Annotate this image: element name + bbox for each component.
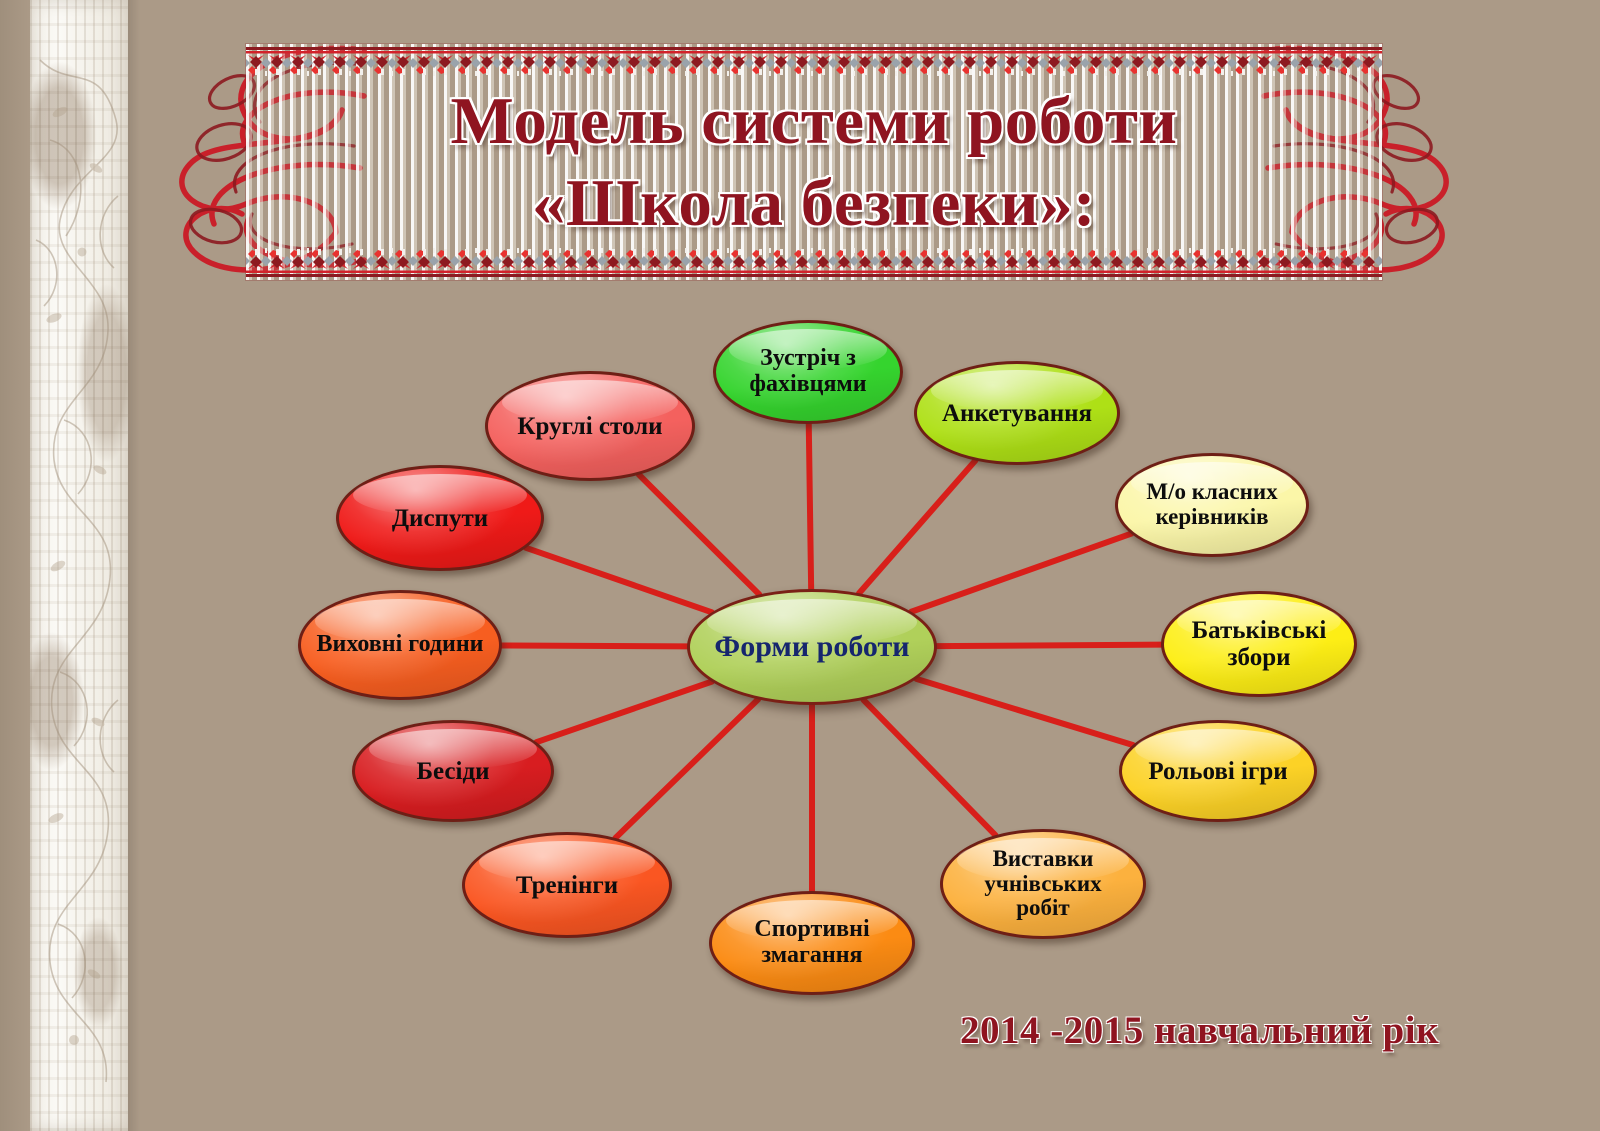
connector-line <box>859 461 975 594</box>
node-4[interactable]: Диспути <box>336 465 544 571</box>
node-label: Батьківські збори <box>1176 617 1342 671</box>
center-node[interactable]: Форми роботи <box>687 589 937 705</box>
connector-line <box>916 679 1132 745</box>
node-label: Диспути <box>392 505 488 532</box>
node-label: Виховні години <box>316 632 483 658</box>
connector-line <box>639 475 759 595</box>
connector-line <box>937 645 1161 647</box>
node-3[interactable]: Анкетування <box>914 361 1120 465</box>
connector-line <box>809 424 811 589</box>
node-11[interactable]: Виставки учнівських робіт <box>940 829 1146 939</box>
node-7[interactable]: Батьківські збори <box>1161 591 1357 697</box>
connector-line <box>536 682 711 743</box>
node-label: Спортивні змагання <box>724 917 900 969</box>
slide-canvas: Модель системи роботи «Школа безпеки»: З… <box>0 0 1600 1131</box>
connector-line <box>864 700 996 835</box>
node-10[interactable]: Тренінги <box>462 832 672 938</box>
node-6[interactable]: Виховні години <box>298 590 502 700</box>
connector-line <box>526 548 712 612</box>
node-label: Бесіди <box>416 758 489 785</box>
connector-line <box>615 699 758 838</box>
node-8[interactable]: Бесіди <box>352 720 554 822</box>
node-label: Круглі столи <box>517 413 662 440</box>
node-2[interactable]: Круглі столи <box>485 371 695 481</box>
mind-map-diagram: Зустріч з фахівцямиКруглі столиАнкетуван… <box>0 0 1600 1131</box>
node-1[interactable]: Зустріч з фахівцями <box>713 320 903 424</box>
node-label: Форми роботи <box>714 631 909 663</box>
node-label: Виставки учнівських робіт <box>955 847 1131 921</box>
node-label: Зустріч з фахівцями <box>728 346 888 398</box>
node-label: М/о класних керівників <box>1130 480 1294 530</box>
node-label: Тренінги <box>516 872 618 899</box>
footer-school-year: 2014 -2015 навчальний рік <box>960 1008 1439 1053</box>
node-12[interactable]: Спортивні змагання <box>709 891 915 995</box>
connector-line <box>911 534 1131 612</box>
node-label: Рольові ігри <box>1148 758 1287 785</box>
node-9[interactable]: Рольові ігри <box>1119 720 1317 822</box>
connector-line <box>502 645 687 646</box>
node-5[interactable]: М/о класних керівників <box>1115 453 1309 557</box>
node-label: Анкетування <box>942 400 1092 427</box>
